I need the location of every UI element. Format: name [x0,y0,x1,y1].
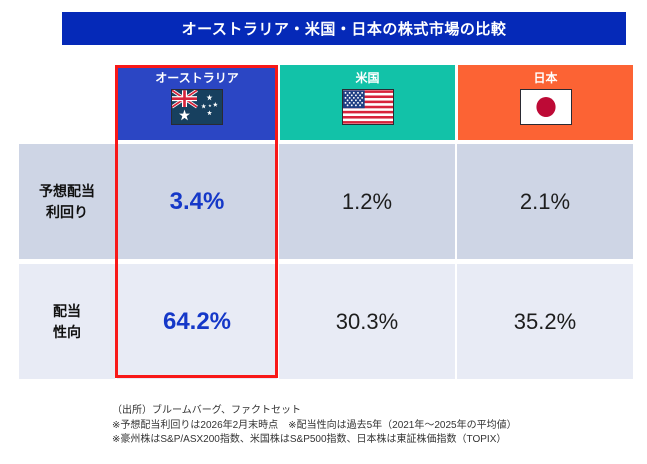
chart-title-bar: オーストラリア・米国・日本の株式市場の比較 [62,12,626,45]
row-label-payout-ratio: 配当 性向 [19,264,115,379]
value-text: 2.1% [520,189,570,215]
value-text: 64.2% [163,308,231,336]
row-label-line2: 性向 [53,322,81,343]
footnote-source: （出所）ブルームバーグ、ファクトセット [112,404,632,419]
comparison-table: オーストラリア [19,65,633,380]
value-text: 3.4% [170,188,225,216]
header-cell-japan: 日本 [458,65,633,140]
value-text: 1.2% [342,189,392,215]
row-label-line1: 配当 [53,301,81,322]
header-cell-empty [19,65,115,140]
header-cell-usa: 米国 [280,65,455,140]
header-label-usa: 米国 [355,70,379,86]
cell-dividend-yield-australia: 3.4% [115,144,277,259]
table-row: 配当 性向 64.2% 30.3% 35.2% [19,264,633,379]
page-title: オーストラリア・米国・日本の株式市場の比較 [182,18,507,39]
header-cell-australia: オーストラリア [117,65,277,140]
cell-dividend-yield-japan: 2.1% [455,144,633,259]
row-label-line2: 利回り [46,202,88,223]
value-text: 35.2% [514,309,576,335]
row-label-line1: 予想配当 [39,181,95,202]
flag-australia-icon [171,89,223,125]
header-label-australia: オーストラリア [155,70,238,86]
footnotes: （出所）ブルームバーグ、ファクトセット ※予想配当利回りは2026年2月末時点 … [112,404,632,448]
flag-japan-icon [520,89,572,125]
table-header-row: オーストラリア [19,65,633,140]
flag-usa-icon [342,89,394,125]
header-label-japan: 日本 [533,70,557,86]
row-label-dividend-yield: 予想配当 利回り [19,144,115,259]
table-row: 予想配当 利回り 3.4% 1.2% 2.1% [19,144,633,259]
footnote-note-1: ※予想配当利回りは2026年2月末時点 ※配当性向は過去5年（2021年〜202… [112,419,632,434]
cell-payout-ratio-japan: 35.2% [455,264,633,379]
cell-payout-ratio-usa: 30.3% [277,264,455,379]
value-text: 30.3% [336,309,398,335]
cell-dividend-yield-usa: 1.2% [277,144,455,259]
cell-payout-ratio-australia: 64.2% [115,264,277,379]
footnote-note-2: ※豪州株はS&P/ASX200指数、米国株はS&P500指数、日本株は東証株価指… [112,433,632,448]
